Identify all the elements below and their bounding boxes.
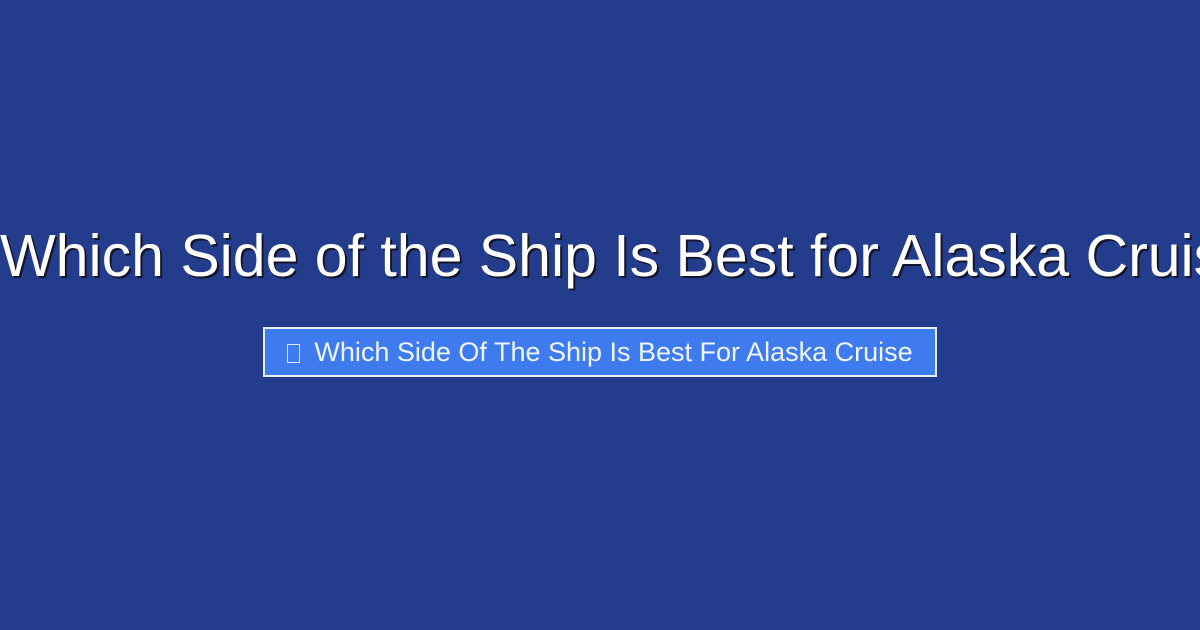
- article-link-button[interactable]: Which Side Of The Ship Is Best For Alask…: [263, 327, 936, 377]
- headline-container: Which Side of the Ship Is Best for Alask…: [0, 220, 1200, 292]
- article-link-label: Which Side Of The Ship Is Best For Alask…: [314, 329, 912, 375]
- missing-glyph-tofu-icon: [287, 344, 300, 363]
- banner-container: Which Side Of The Ship Is Best For Alask…: [0, 327, 1200, 377]
- social-share-card: Which Side of the Ship Is Best for Alask…: [0, 0, 1200, 630]
- page-title: Which Side of the Ship Is Best for Alask…: [0, 220, 1200, 292]
